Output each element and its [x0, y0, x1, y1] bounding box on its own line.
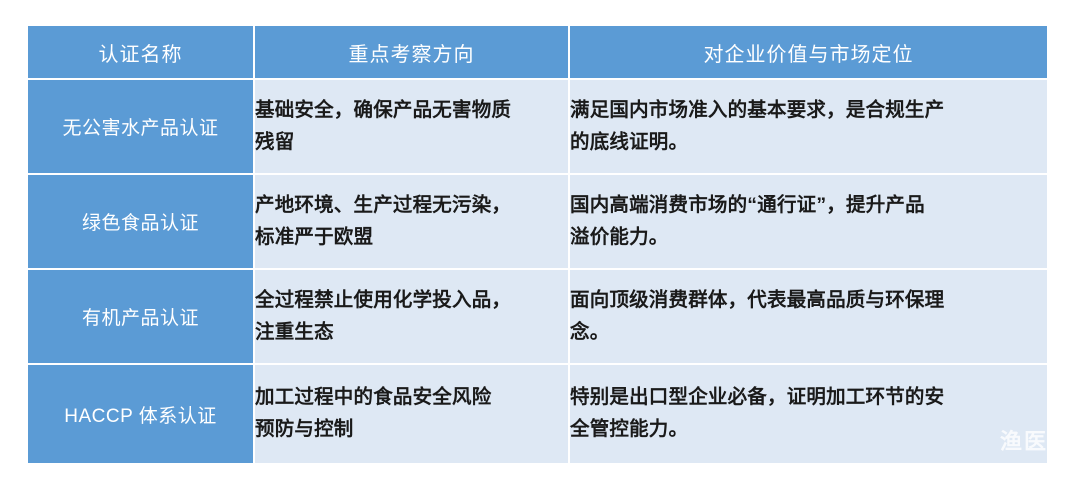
cell-text-line: 产地环境、生产过程无污染， [255, 190, 568, 222]
table-row: 有机产品认证 全过程禁止使用化学投入品， 注重生态 面向顶级消费群体，代表最高品… [28, 270, 1047, 365]
column-header-certification-name: 认证名称 [28, 26, 255, 80]
cell-enterprise-value: 特别是出口型企业必备，证明加工环节的安 全管控能力。 [570, 365, 1047, 463]
table-header-row: 认证名称 重点考察方向 对企业价值与市场定位 [28, 26, 1047, 80]
cell-text-line: 加工过程中的食品安全风险 [255, 382, 568, 414]
cell-text-line: 念。 [570, 317, 1047, 349]
table-body: 无公害水产品认证 基础安全，确保产品无害物质 残留 满足国内市场准入的基本要求，… [28, 80, 1047, 463]
cell-text-line: 全过程禁止使用化学投入品， [255, 285, 568, 317]
table-row: 绿色食品认证 产地环境、生产过程无污染， 标准严于欧盟 国内高端消费市场的“通行… [28, 175, 1047, 270]
cell-text-line: 标准严于欧盟 [255, 222, 568, 254]
table-header: 认证名称 重点考察方向 对企业价值与市场定位 [28, 26, 1047, 80]
column-header-enterprise-value: 对企业价值与市场定位 [570, 26, 1047, 80]
cell-enterprise-value: 满足国内市场准入的基本要求，是合规生产 的底线证明。 [570, 80, 1047, 175]
cell-certification-name: 有机产品认证 [28, 270, 255, 365]
cell-text-line: 基础安全，确保产品无害物质 [255, 95, 568, 127]
cell-focus-area: 加工过程中的食品安全风险 预防与控制 [255, 365, 570, 463]
cell-focus-area: 产地环境、生产过程无污染， 标准严于欧盟 [255, 175, 570, 270]
cell-text-line: 满足国内市场准入的基本要求，是合规生产 [570, 95, 1047, 127]
cell-text-line: 全管控能力。 [570, 414, 1047, 446]
cell-enterprise-value: 面向顶级消费群体，代表最高品质与环保理 念。 [570, 270, 1047, 365]
table-row: HACCP 体系认证 加工过程中的食品安全风险 预防与控制 特别是出口型企业必备… [28, 365, 1047, 463]
cell-text-line: 面向顶级消费群体，代表最高品质与环保理 [570, 285, 1047, 317]
table-row: 无公害水产品认证 基础安全，确保产品无害物质 残留 满足国内市场准入的基本要求，… [28, 80, 1047, 175]
cell-certification-name: HACCP 体系认证 [28, 365, 255, 463]
cell-certification-name: 无公害水产品认证 [28, 80, 255, 175]
cell-text-line: 预防与控制 [255, 414, 568, 446]
cell-focus-area: 基础安全，确保产品无害物质 残留 [255, 80, 570, 175]
cell-text-line: 特别是出口型企业必备，证明加工环节的安 [570, 382, 1047, 414]
cell-text-line: 的底线证明。 [570, 127, 1047, 159]
cell-focus-area: 全过程禁止使用化学投入品， 注重生态 [255, 270, 570, 365]
cell-text-line: 注重生态 [255, 317, 568, 349]
cell-certification-name: 绿色食品认证 [28, 175, 255, 270]
certification-table: 认证名称 重点考察方向 对企业价值与市场定位 无公害水产品认证 基础安全，确保产… [28, 26, 1047, 463]
cell-text-line: 国内高端消费市场的“通行证”，提升产品 [570, 190, 1047, 222]
column-header-focus-area: 重点考察方向 [255, 26, 570, 80]
cell-text-line: 溢价能力。 [570, 222, 1047, 254]
cell-enterprise-value: 国内高端消费市场的“通行证”，提升产品 溢价能力。 [570, 175, 1047, 270]
cell-text-line: 残留 [255, 127, 568, 159]
